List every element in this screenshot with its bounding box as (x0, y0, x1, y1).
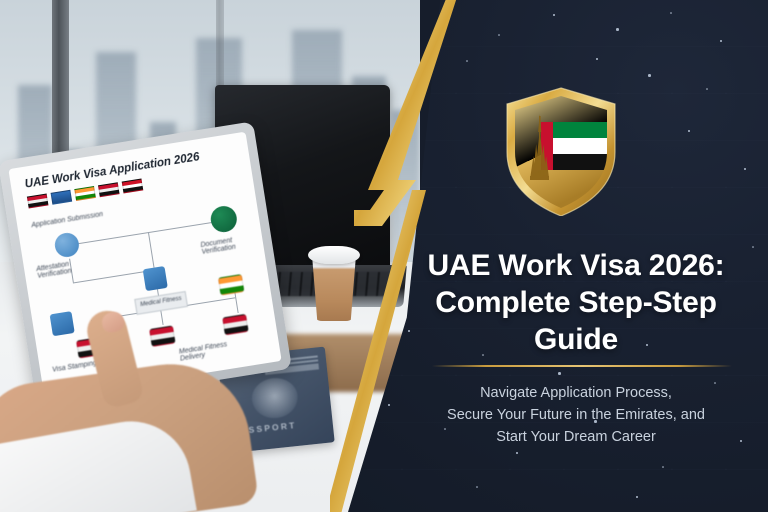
coffee-cup-lid (308, 246, 360, 264)
subtitle-line-2: Secure Your Future in the Emirates, and (392, 404, 760, 426)
flow-node-flag-delivery (222, 314, 249, 336)
subtitle-line-3: Start Your Dream Career (392, 426, 760, 448)
gold-separator-line (432, 365, 732, 367)
visa-promo-banner: PASSPORT UAE Work Visa Application 2026 … (0, 0, 768, 512)
title-line-1: UAE Work Visa 2026: (398, 248, 754, 285)
flow-label-medical-delivery: Medical Fitness Delivery (179, 337, 254, 362)
flow-label-document: Document Verification (200, 234, 256, 256)
flag-uae-icon (27, 194, 49, 209)
office-photo-scene: PASSPORT UAE Work Visa Application 2026 … (0, 0, 420, 512)
flow-node-flag-medical (149, 325, 176, 347)
flowchart-section-label: Application Submission (31, 211, 104, 229)
flow-node-document (209, 204, 239, 234)
uae-shield-emblem (503, 86, 619, 216)
flow-node-visa (50, 311, 75, 336)
flag-uae-icon (98, 182, 120, 197)
flow-node-attestation (53, 231, 80, 258)
tablet-device[interactable]: UAE Work Visa Application 2026 Applicati… (0, 121, 292, 408)
uae-flag-icon (541, 122, 607, 170)
flow-node-medical (143, 266, 168, 291)
page-title: UAE Work Visa 2026: Complete Step-Step G… (398, 248, 754, 359)
passport-emblem-icon (250, 376, 300, 421)
title-line-2: Complete Step-Step (398, 285, 754, 322)
badge-blue-icon (51, 190, 73, 205)
page-subtitle: Navigate Application Process, Secure You… (392, 382, 760, 448)
flow-label-attestation: Attestation Verification (36, 258, 92, 280)
flag-india-icon (74, 186, 96, 201)
flag-egypt-icon (122, 178, 144, 193)
title-line-3: Guide (398, 322, 754, 359)
coffee-cup (312, 255, 356, 321)
subtitle-line-1: Navigate Application Process, (392, 382, 760, 404)
flow-node-flag-india (218, 274, 245, 296)
tablet-screen[interactable]: UAE Work Visa Application 2026 Applicati… (8, 132, 281, 399)
flow-label-visa-stamping: Visa Stamping (52, 359, 101, 373)
